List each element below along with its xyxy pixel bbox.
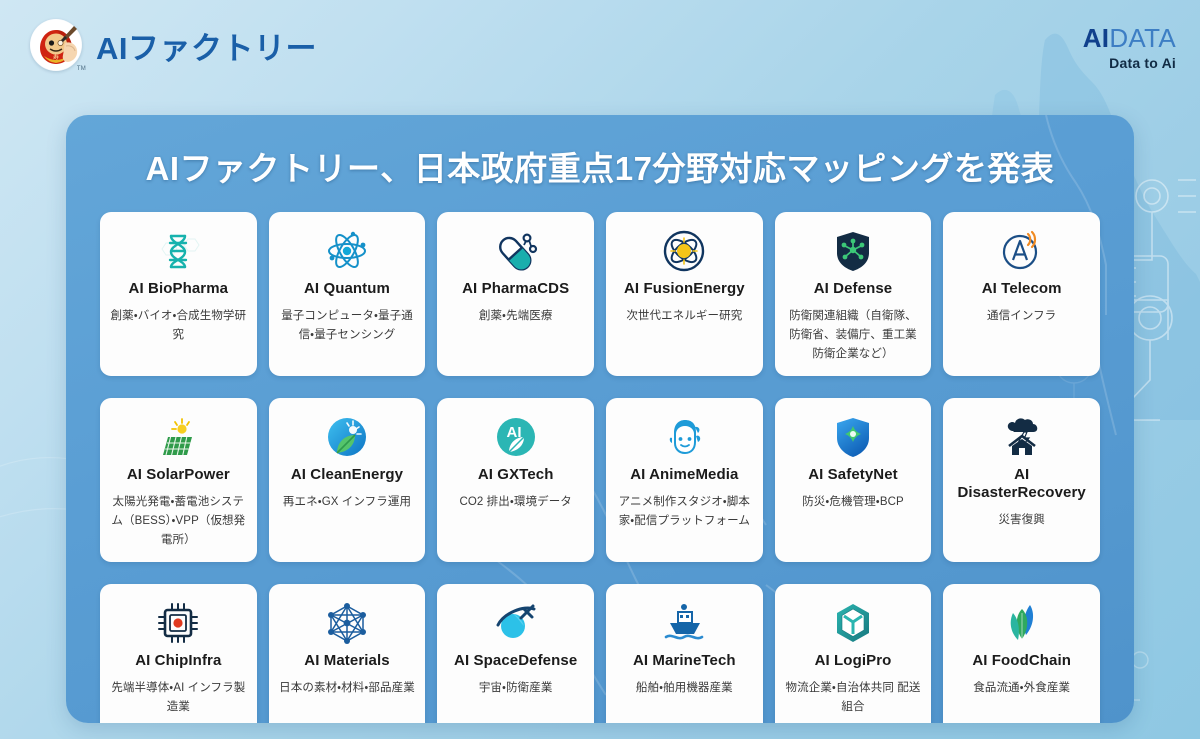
card-description: 先端半導体・AI インフラ製造業 (109, 679, 248, 717)
card-title: AI BioPharma (129, 280, 229, 298)
storm-house-icon (1000, 414, 1044, 460)
card-ai-foodchain[interactable]: AI FoodChain 食品流通・外食産業 (943, 584, 1100, 723)
daruma-doll-logo: 寿 TM (30, 19, 82, 71)
shield-cross-icon (831, 414, 875, 460)
corp-logo-ai: AI (1083, 23, 1110, 53)
card-ai-logipro[interactable]: AI LogiPro 物流企業・自治体共同 配送組合 (775, 584, 932, 723)
card-ai-animemedia[interactable]: AI AnimeMedia アニメ制作スタジオ・脚本家・配信プラットフォーム (606, 398, 763, 562)
leaves-icon (1000, 600, 1044, 646)
card-description: 物流企業・自治体共同 配送組合 (784, 679, 923, 717)
card-description: アニメ制作スタジオ・脚本家・配信プラットフォーム (615, 493, 754, 531)
card-description: 宇宙・防衛産業 (479, 679, 553, 698)
dna-helix-icon (156, 228, 200, 274)
brand-lockup: 寿 TM AIファクトリー (30, 19, 317, 71)
ship-icon (662, 600, 706, 646)
trademark-mark: TM (77, 66, 86, 72)
planet-satellite-icon (494, 600, 538, 646)
card-description: 太陽光発電・蓄電池システム（BESS）・VPP（仮想発電所） (109, 493, 248, 550)
microchip-icon (156, 600, 200, 646)
card-title: AI SpaceDefense (454, 652, 577, 670)
card-ai-pharmacds[interactable]: AI PharmaCDS 創薬・先端医療 (437, 212, 594, 376)
card-ai-defense[interactable]: AI Defense 防衛関連組織（自衛隊、防衛省、装備庁、重工業防衛企業など） (775, 212, 932, 376)
atom-icon (325, 228, 369, 274)
card-description: 次世代エネルギー研究 (626, 307, 742, 326)
card-description: 船舶・舶用機器産業 (636, 679, 733, 698)
corporate-logo: AIDATA Data to Ai (1083, 21, 1176, 70)
card-ai-marinetech[interactable]: AI MarineTech 船舶・舶用機器産業 (606, 584, 763, 723)
card-title: AI PharmaCDS (462, 280, 569, 298)
card-title: AI Quantum (304, 280, 390, 298)
card-description: 創薬・バイオ・合成生物学研究 (109, 307, 248, 345)
card-grid-row-3: AI ChipInfra 先端半導体・AI インフラ製造業 (100, 584, 1100, 723)
card-ai-materials[interactable]: AI Materials 日本の素材・材料・部品産業 (269, 584, 426, 723)
card-ai-cleanenergy[interactable]: AI CleanEnergy 再エネ・GX インフラ運用 (269, 398, 426, 562)
molecule-lattice-icon (325, 600, 369, 646)
card-title: AI Materials (304, 652, 389, 670)
mapping-panel: AIファクトリー、日本政府重点17分野対応マッピングを発表 AI BioPhar… (66, 115, 1134, 723)
card-description: CO2 排出・環境データ (459, 493, 571, 512)
card-title: AI SafetyNet (808, 466, 898, 484)
svg-text:寿: 寿 (53, 53, 59, 61)
pill-capsule-icon (494, 228, 538, 274)
card-ai-biopharma[interactable]: AI BioPharma 創薬・バイオ・合成生物学研究 (100, 212, 257, 376)
card-description: 通信インフラ (987, 307, 1056, 326)
card-title: AI SolarPower (127, 466, 230, 484)
card-title: AI DisasterRecovery (952, 466, 1091, 502)
card-description: 日本の素材・材料・部品産業 (279, 679, 415, 698)
card-grid-row-2: AI SolarPower 太陽光発電・蓄電池システム（BESS）・VPP（仮想… (100, 398, 1100, 562)
ai-leaf-icon: AI (494, 414, 538, 460)
card-title: AI FusionEnergy (624, 280, 745, 298)
card-ai-fusionenergy[interactable]: AI FusionEnergy 次世代エネルギー研究 (606, 212, 763, 376)
card-title: AI GXTech (478, 466, 554, 484)
shield-network-icon (831, 228, 875, 274)
card-title: AI FoodChain (972, 652, 1071, 670)
corp-logo-tagline: Data to Ai (1083, 56, 1176, 70)
corp-logo-data: DATA (1109, 23, 1176, 53)
card-description: 防災・危機管理・BCP (802, 493, 904, 512)
card-ai-spacedefense[interactable]: AI SpaceDefense 宇宙・防衛産業 (437, 584, 594, 723)
card-ai-solarpower[interactable]: AI SolarPower 太陽光発電・蓄電池システム（BESS）・VPP（仮想… (100, 398, 257, 562)
signal-antenna-icon (1000, 228, 1044, 274)
card-description: 再エネ・GX インフラ運用 (283, 493, 411, 512)
card-grid-row-1: AI BioPharma 創薬・バイオ・合成生物学研究 AI Quantum (100, 212, 1100, 376)
card-ai-safetynet[interactable]: AI SafetyNet 防災・危機管理・BCP (775, 398, 932, 562)
card-title: AI MarineTech (633, 652, 736, 670)
card-title: AI Telecom (982, 280, 1062, 298)
card-title: AI CleanEnergy (291, 466, 403, 484)
page-header: 寿 TM AIファクトリー AIDATA Data to Ai (0, 0, 1200, 90)
card-title: AI ChipInfra (135, 652, 221, 670)
solar-panel-icon (156, 414, 200, 460)
anime-face-icon (662, 414, 706, 460)
card-title: AI LogiPro (815, 652, 892, 670)
card-description: 量子コンピュータ・量子通信・量子センシング (278, 307, 417, 345)
fusion-reactor-icon (662, 228, 706, 274)
card-ai-quantum[interactable]: AI Quantum 量子コンピュータ・量子通信・量子センシング (269, 212, 426, 376)
card-title: AI Defense (814, 280, 893, 298)
card-ai-gxtech[interactable]: AI AI GXTech CO2 排出・環境データ (437, 398, 594, 562)
card-description: 防衛関連組織（自衛隊、防衛省、装備庁、重工業防衛企業など） (784, 307, 923, 364)
card-description: 災害復興 (998, 511, 1044, 530)
leaf-sun-icon (325, 414, 369, 460)
page-title: AIファクトリー、日本政府重点17分野対応マッピングを発表 (66, 142, 1134, 190)
brand-title: AIファクトリー (96, 23, 317, 68)
card-title: AI AnimeMedia (630, 466, 738, 484)
card-ai-chipinfra[interactable]: AI ChipInfra 先端半導体・AI インフラ製造業 (100, 584, 257, 723)
card-ai-telecom[interactable]: AI Telecom 通信インフラ (943, 212, 1100, 376)
package-hexagon-icon (831, 600, 875, 646)
card-description: 創薬・先端医療 (479, 307, 553, 326)
card-ai-disasterrecovery[interactable]: AI DisasterRecovery 災害復興 (943, 398, 1100, 562)
card-description: 食品流通・外食産業 (973, 679, 1070, 698)
